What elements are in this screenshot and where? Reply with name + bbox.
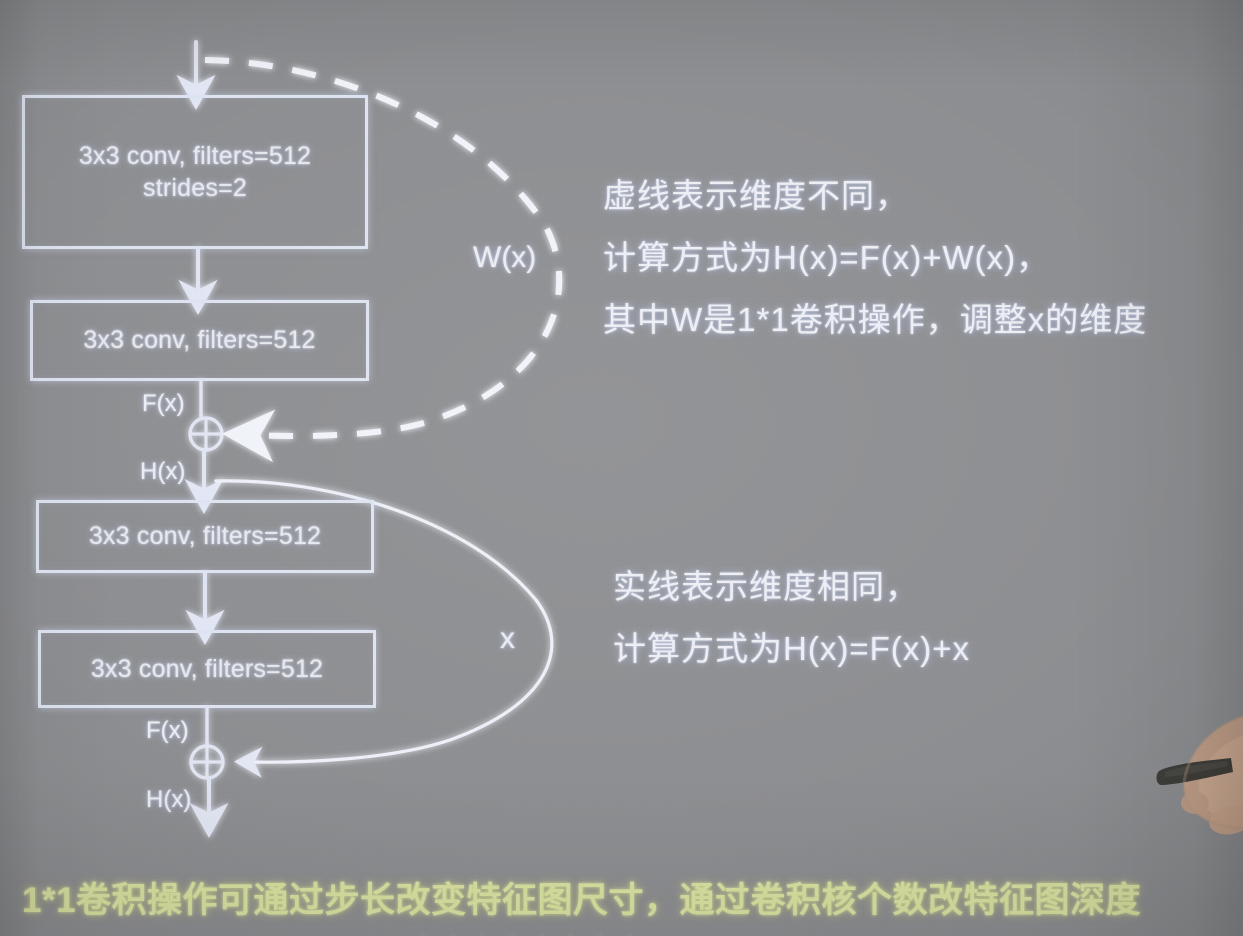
annotation-solid-line-2: 计算方式为H(x)=F(x)+x — [613, 618, 970, 680]
conv-block-3-line1: 3x3 conv, filters=512 — [89, 520, 321, 553]
conv-block-4-line1: 3x3 conv, filters=512 — [91, 653, 323, 686]
slide-photo: 3x3 conv, filters=512 strides=2 3x3 conv… — [0, 0, 1243, 936]
label-x-shortcut: x — [500, 622, 515, 656]
label-wx-shortcut: W(x) — [473, 241, 536, 275]
label-fx-bottom: F(x) — [146, 717, 189, 745]
label-hx-mid: H(x) — [140, 458, 185, 486]
annotation-dashed-line-3: 其中W是1*1卷积操作，调整x的维度 — [603, 289, 1147, 351]
presenter-hand — [1127, 708, 1243, 858]
conv-block-1: 3x3 conv, filters=512 strides=2 — [22, 95, 368, 249]
annotation-dashed-line-2: 计算方式为H(x)=F(x)+W(x)， — [603, 227, 1147, 289]
conv-block-1-line2: strides=2 — [143, 174, 247, 202]
annotation-solid-note: 实线表示维度相同， 计算方式为H(x)=F(x)+x — [613, 556, 970, 680]
conv-block-1-line1: 3x3 conv, filters=512 — [79, 142, 311, 170]
label-hx-bottom: H(x) — [146, 786, 191, 814]
annotation-solid-line-1: 实线表示维度相同， — [613, 556, 970, 618]
conv-block-3: 3x3 conv, filters=512 — [36, 500, 374, 573]
annotation-dashed-line-1: 虚线表示维度不同， — [603, 165, 1147, 227]
conv-block-2: 3x3 conv, filters=512 — [30, 300, 369, 381]
label-fx-top: F(x) — [142, 390, 185, 418]
conv-block-2-line1: 3x3 conv, filters=512 — [83, 324, 315, 357]
bottom-caption: 1*1卷积操作可通过步长改变特征图尺寸，通过卷积核个数改特征图深度 — [22, 872, 1141, 923]
annotation-dashed-note: 虚线表示维度不同， 计算方式为H(x)=F(x)+W(x)， 其中W是1*1卷积… — [603, 165, 1147, 351]
conv-block-4: 3x3 conv, filters=512 — [38, 630, 376, 708]
caption-ghost-text: · · · · · · · · — [420, 922, 641, 936]
